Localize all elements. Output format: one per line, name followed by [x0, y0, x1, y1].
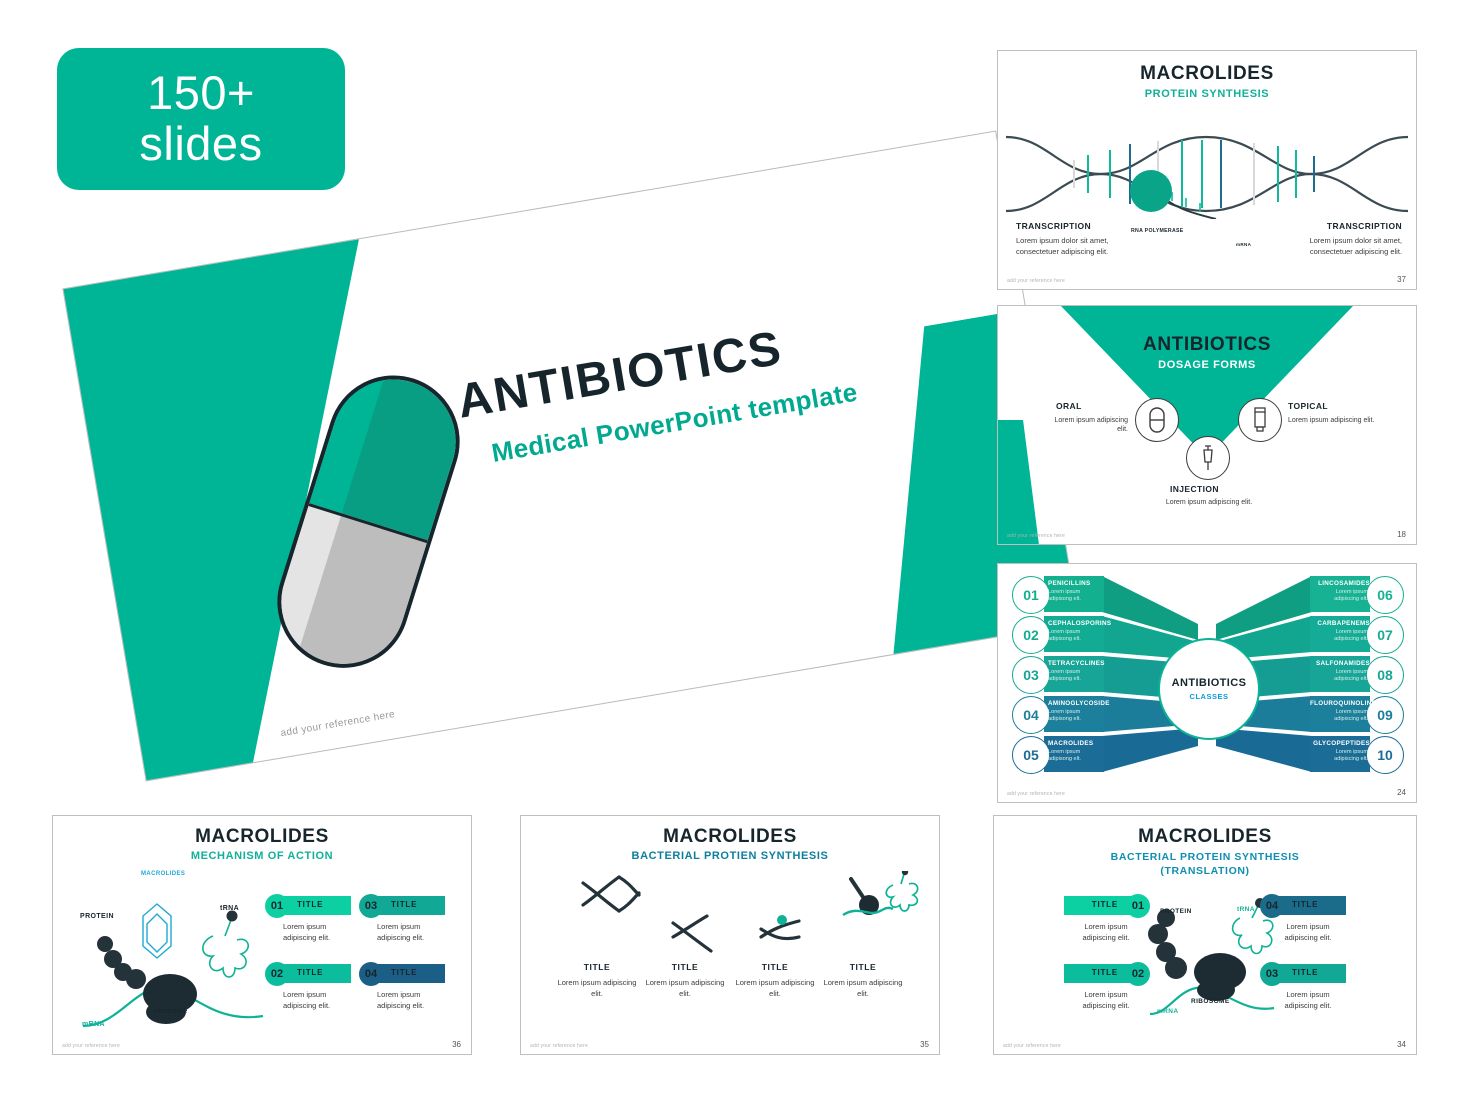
class-name: AMINOGLYCOSIDE — [1048, 700, 1110, 707]
transcription-right-heading: TRANSCRIPTION — [1287, 221, 1402, 232]
class-body: Lorem ipsum adipisong elt. — [1048, 589, 1102, 604]
slide-subtitle: DOSAGE FORMS — [998, 359, 1416, 371]
chip-number: 04 — [1260, 894, 1284, 918]
slide-reference-note: add your reference here — [1003, 1043, 1061, 1049]
capsule-icon — [1135, 398, 1179, 442]
transcription-left-heading: TRANSCRIPTION — [1016, 221, 1131, 232]
chip-title: TITLE — [1092, 900, 1118, 909]
mrna-label: mRNA — [1236, 242, 1251, 247]
slide-reference-note: add your reference here — [62, 1043, 120, 1049]
class-number: 04 — [1012, 696, 1050, 734]
class-name: SALFONAMIDES — [1310, 660, 1370, 667]
slide-title: ANTIBIOTICS — [998, 334, 1416, 356]
slide-reference-note: add your reference here — [530, 1043, 588, 1049]
class-number: 03 — [1012, 656, 1050, 694]
class-body: Lorem ipsum adipiscing elt. — [1310, 669, 1368, 684]
label-ribosome: RIBOSOME — [1191, 998, 1230, 1005]
chip-body: Lorem ipsum adipiscing elit. — [377, 922, 447, 943]
step-body: Lorem ipsum adipiscing elit. — [551, 978, 643, 999]
chip-number: 01 — [265, 894, 289, 918]
label-mrna: mRNA — [1157, 1008, 1178, 1015]
slide-reference-note: add your reference here — [1007, 278, 1065, 284]
transcription-right-body: Lorem ipsum dolor sit amet, consectetuer… — [1287, 236, 1402, 256]
class-number: 02 — [1012, 616, 1050, 654]
slide-title: MACROLIDES — [998, 63, 1416, 85]
step-body: Lorem ipsum adipiscing elit. — [639, 978, 731, 999]
class-number: 10 — [1366, 736, 1404, 774]
class-name: MACROLIDES — [1048, 740, 1093, 747]
chip-number: 03 — [1260, 962, 1284, 986]
class-name: CARBAPENEMS — [1310, 620, 1370, 627]
hero-slide[interactable]: ANTIBIOTICS Medical PowerPoint template … — [62, 131, 1079, 782]
slide-title: MACROLIDES — [53, 826, 471, 848]
chip-body: Lorem ipsum adipiscing elit. — [1272, 990, 1344, 1011]
dosage-label-injection: INJECTION — [1170, 484, 1219, 494]
slide-subtitle: MECHANISM OF ACTION — [53, 850, 471, 862]
label-macrolides: MACROLIDES — [141, 871, 185, 877]
label-trna: tRNA — [1237, 906, 1255, 913]
class-name: FLOUROQUINOLINE — [1310, 700, 1370, 707]
class-name: GLYCOPEPTIDES — [1310, 740, 1370, 747]
class-body: Lorem ipsum adipiscing elt. — [1310, 589, 1368, 604]
transcription-left-body: Lorem ipsum dolor sit amet, consectetuer… — [1016, 236, 1131, 256]
chip-body: Lorem ipsum adipiscing elit. — [1070, 922, 1142, 943]
slide-reference-note: add your reference here — [1007, 791, 1065, 797]
chip-number: 03 — [359, 894, 383, 918]
chip-number: 04 — [359, 962, 383, 986]
slide-page-number: 18 — [1397, 530, 1406, 539]
class-name: LINCOSAMIDES — [1310, 580, 1370, 587]
chip-title: TITLE — [297, 900, 323, 909]
chip-body: Lorem ipsum adipiscing elit. — [283, 990, 353, 1011]
chip-title: TITLE — [1292, 968, 1318, 977]
slide-title: MACROLIDES — [521, 826, 939, 848]
class-name: TETRACYCLINES — [1048, 660, 1105, 667]
chip-title: TITLE — [391, 968, 417, 977]
chip-number: 01 — [1126, 894, 1150, 918]
chip-title: TITLE — [391, 900, 417, 909]
slide-subtitle: PROTEIN SYNTHESIS — [998, 88, 1416, 100]
dosage-label-topical: TOPICAL — [1288, 401, 1328, 411]
rna-polymerase-label: RNA POLYMERASE — [1131, 228, 1184, 234]
dosage-body-topical: Lorem ipsum adipiscing elit. — [1288, 416, 1378, 425]
dosage-corner-shape — [997, 420, 1039, 545]
class-body: Lorem ipsum adipisong elt. — [1048, 709, 1102, 724]
classes-hub-subtitle: CLASSES — [1190, 692, 1229, 701]
slide-bacterial-protein-synthesis[interactable]: MACROLIDES BACTERIAL PROTIEN SYNTHESIS — [520, 815, 940, 1055]
slide-page-number: 34 — [1397, 1040, 1406, 1049]
class-name: CEPHALOSPORINS — [1048, 620, 1111, 627]
transcription-left-block: TRANSCRIPTION Lorem ipsum dolor sit amet… — [1016, 221, 1131, 257]
synthesis-steps-icons — [521, 871, 939, 971]
dosage-label-oral: ORAL — [1056, 401, 1082, 411]
class-number: 07 — [1366, 616, 1404, 654]
label-trna: tRNA — [220, 905, 239, 912]
slide-page-number: 24 — [1397, 788, 1406, 797]
step-title: TITLE — [817, 962, 909, 972]
class-number: 01 — [1012, 576, 1050, 614]
step-title: TITLE — [551, 962, 643, 972]
step-title: TITLE — [729, 962, 821, 972]
step-body: Lorem ipsum adipiscing elit. — [729, 978, 821, 999]
syringe-icon — [1186, 436, 1230, 480]
chip-body: Lorem ipsum adipiscing elit. — [1070, 990, 1142, 1011]
class-number: 05 — [1012, 736, 1050, 774]
classes-hub-title: ANTIBIOTICS — [1172, 677, 1247, 689]
class-body: Lorem ipsum adipisong elt. — [1048, 629, 1102, 644]
hero-reference-note: add your reference here — [280, 709, 396, 739]
slide-subtitle-line2: (TRANSLATION) — [994, 864, 1416, 878]
chip-body: Lorem ipsum adipiscing elit. — [1272, 922, 1344, 943]
slide-dosage-forms[interactable]: ANTIBIOTICS DOSAGE FORMS ORAL Lorem ipsu… — [997, 305, 1417, 545]
chip-title: TITLE — [1092, 968, 1118, 977]
badge-line-1: 150+ — [147, 68, 255, 119]
translation-diagram-icon — [1144, 896, 1284, 1026]
class-number: 08 — [1366, 656, 1404, 694]
slide-antibiotics-classes[interactable]: 01PENICILLINSLorem ipsum adipisong elt.0… — [997, 563, 1417, 803]
slide-subtitle-line1: BACTERIAL PROTEIN SYNTHESIS — [994, 850, 1416, 864]
chip-number: 02 — [1126, 962, 1150, 986]
chip-number: 02 — [265, 962, 289, 986]
tube-icon — [1238, 398, 1282, 442]
chip-body: Lorem ipsum adipiscing elit. — [283, 922, 353, 943]
class-name: PENICILLINS — [1048, 580, 1090, 587]
class-body: Lorem ipsum adipisong elt. — [1048, 669, 1102, 684]
slide-subtitle: BACTERIAL PROTIEN SYNTHESIS — [521, 850, 939, 862]
class-body: Lorem ipsum adipiscing elt. — [1310, 709, 1368, 724]
label-protein: PROTEIN — [1160, 908, 1192, 915]
slide-mechanism-of-action[interactable]: MACROLIDES MECHANISM OF ACTION MACROLIDE… — [52, 815, 472, 1055]
step-title: TITLE — [639, 962, 731, 972]
slide-reference-note: add your reference here — [1007, 533, 1065, 539]
chip-title: TITLE — [1292, 900, 1318, 909]
label-ribosome: ribosome — [153, 1008, 188, 1015]
transcription-right-block: TRANSCRIPTION Lorem ipsum dolor sit amet… — [1287, 221, 1402, 257]
dosage-body-injection: Lorem ipsum adipiscing elit. — [1164, 498, 1254, 507]
step-body: Lorem ipsum adipiscing elit. — [817, 978, 909, 999]
class-number: 06 — [1366, 576, 1404, 614]
chip-body: Lorem ipsum adipiscing elit. — [377, 990, 447, 1011]
class-body: Lorem ipsum adipiscing elt. — [1310, 629, 1368, 644]
presentation-preview-canvas: 150+ slides ANTIBIOTICS Medical PowerPoi… — [0, 0, 1468, 1102]
dosage-body-oral: Lorem ipsum adipiscing elit. — [1042, 416, 1128, 435]
slide-translation[interactable]: MACROLIDES BACTERIAL PROTEIN SYNTHESIS (… — [993, 815, 1417, 1055]
chip-title: TITLE — [297, 968, 323, 977]
label-protein: PROTEIN — [80, 913, 114, 920]
slide-page-number: 36 — [452, 1040, 461, 1049]
slide-page-number: 35 — [920, 1040, 929, 1049]
slide-protein-synthesis[interactable]: MACROLIDES PROTEIN SYNTHESIS — [997, 50, 1417, 290]
classes-hub: ANTIBIOTICS CLASSES — [1158, 638, 1260, 740]
slide-page-number: 37 — [1397, 275, 1406, 284]
dna-transcription-bubble-icon — [1006, 129, 1408, 219]
slide-title: MACROLIDES — [994, 826, 1416, 848]
class-body: Lorem ipsum adipiscing elt. — [1310, 749, 1368, 764]
label-mrna: mRNA — [82, 1021, 105, 1028]
class-body: Lorem ipsum adipisong elt. — [1048, 749, 1102, 764]
